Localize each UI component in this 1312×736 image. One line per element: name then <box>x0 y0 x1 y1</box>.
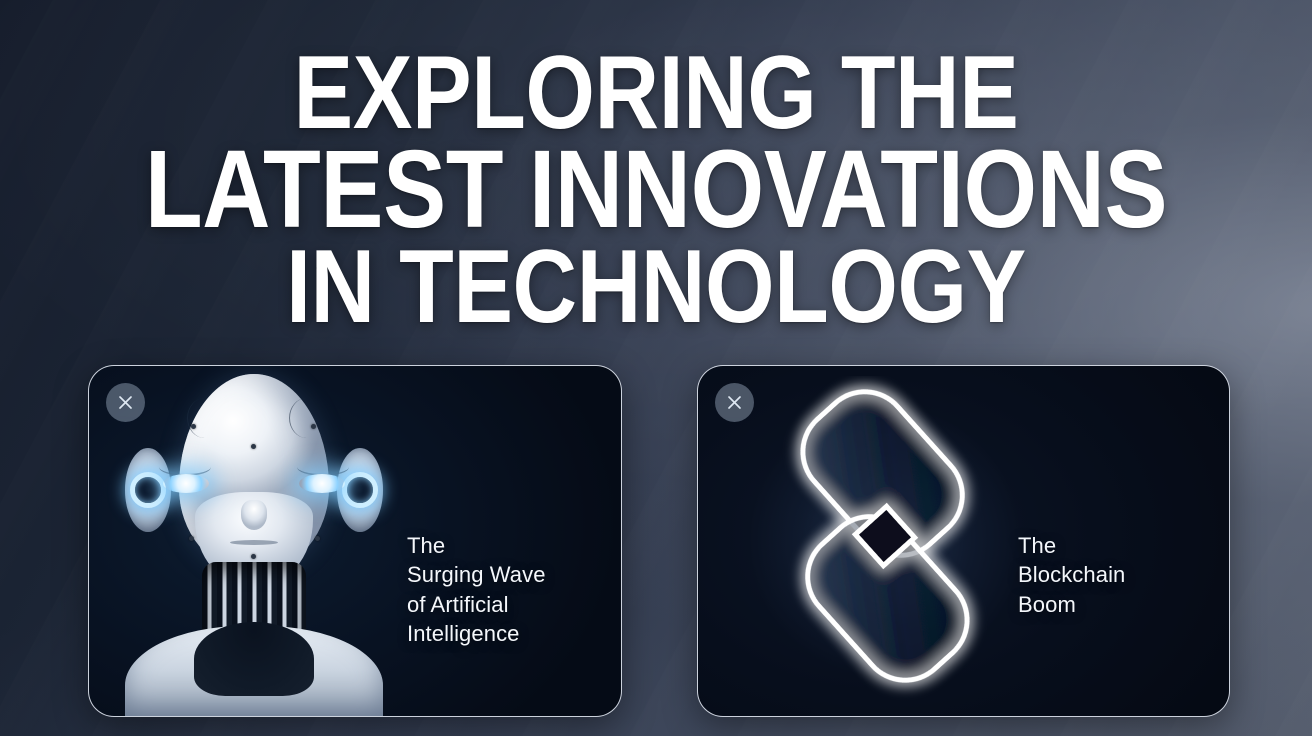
card-caption-blockchain: The Blockchain Boom <box>1018 531 1214 619</box>
card-caption-ai: The Surging Wave of Artificial Intellige… <box>407 531 607 648</box>
close-button-blockchain[interactable] <box>715 383 754 422</box>
close-icon <box>726 394 743 411</box>
slide-canvas: EXPLORING THE LATEST INNOVATIONS IN TECH… <box>0 0 1312 736</box>
headline-line-3: IN TECHNOLOGY <box>92 240 1220 334</box>
close-button-ai[interactable] <box>106 383 145 422</box>
headline-line-2: LATEST INNOVATIONS <box>92 140 1220 240</box>
headline-line-1: EXPLORING THE <box>92 46 1220 140</box>
robot-head-image <box>89 366 419 716</box>
card-blockchain[interactable]: The Blockchain Boom <box>697 365 1230 717</box>
page-title: EXPLORING THE LATEST INNOVATIONS IN TECH… <box>0 46 1312 334</box>
close-icon <box>117 394 134 411</box>
card-artificial-intelligence[interactable]: The Surging Wave of Artificial Intellige… <box>88 365 622 717</box>
blockchain-link-icon <box>720 376 1050 706</box>
